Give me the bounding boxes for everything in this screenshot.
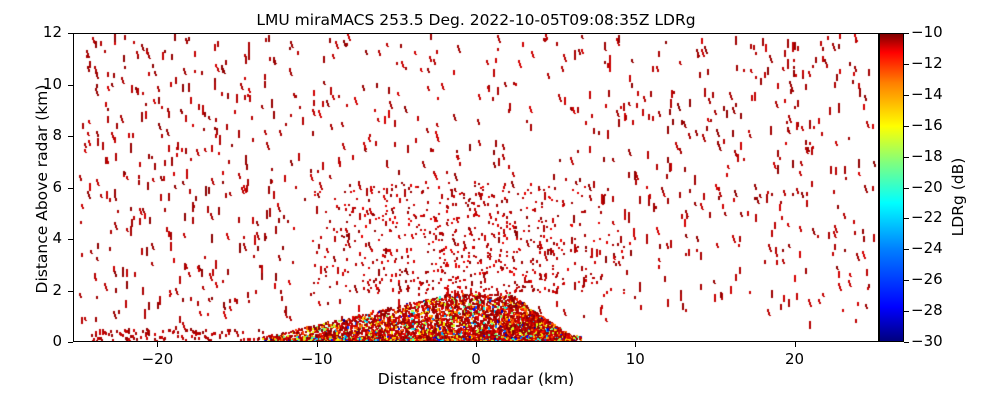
colorbar-tick [904, 311, 909, 312]
colorbar-tick [904, 188, 909, 189]
radar-figure: LMU miraMACS 253.5 Deg. 2022-10-05T09:08… [0, 0, 1000, 400]
y-tick [68, 33, 73, 34]
y-tick-label: 10 [0, 75, 62, 93]
colorbar-tick [904, 342, 909, 343]
y-tick [68, 342, 73, 343]
y-tick-label: 12 [0, 23, 62, 41]
y-tick [68, 239, 73, 240]
x-axis-label: Distance from radar (km) [73, 370, 879, 388]
y-tick-label: 6 [0, 178, 62, 196]
y-tick-label: 2 [0, 281, 62, 299]
colorbar-tick [904, 218, 909, 219]
x-tick-label: −20 [122, 350, 192, 368]
colorbar-tick [904, 95, 909, 96]
colorbar-gradient [879, 33, 904, 342]
colorbar-tick-label: −24 [911, 239, 943, 257]
x-tick-label: 20 [760, 350, 830, 368]
x-tick [317, 342, 318, 347]
colorbar-tick-label: −10 [911, 23, 943, 41]
colorbar-label: LDRg (dB) [949, 127, 967, 267]
colorbar-tick [904, 64, 909, 65]
colorbar-tick-label: −30 [911, 332, 943, 350]
y-tick-label: 4 [0, 229, 62, 247]
x-tick-label: 0 [441, 350, 511, 368]
colorbar-tick [904, 157, 909, 158]
colorbar-tick [904, 33, 909, 34]
colorbar-tick-label: −16 [911, 116, 943, 134]
x-tick [795, 342, 796, 347]
colorbar-tick-label: −20 [911, 178, 943, 196]
page-title: LMU miraMACS 253.5 Deg. 2022-10-05T09:08… [73, 11, 879, 29]
colorbar-tick-label: −28 [911, 301, 943, 319]
y-tick [68, 188, 73, 189]
scatter-canvas [74, 34, 879, 342]
y-tick-label: 8 [0, 126, 62, 144]
x-tick [476, 342, 477, 347]
y-tick [68, 291, 73, 292]
y-tick [68, 85, 73, 86]
x-tick-label: 10 [600, 350, 670, 368]
y-tick-label: 0 [0, 332, 62, 350]
x-tick-label: −10 [282, 350, 352, 368]
colorbar-tick-label: −26 [911, 270, 943, 288]
colorbar-tick-label: −12 [911, 54, 943, 72]
colorbar-tick-label: −14 [911, 85, 943, 103]
x-tick [157, 342, 158, 347]
y-axis-label: Distance Above radar (km) [33, 49, 51, 329]
colorbar-tick-label: −22 [911, 208, 943, 226]
y-tick [68, 136, 73, 137]
colorbar-tick [904, 126, 909, 127]
colorbar-tick-label: −18 [911, 147, 943, 165]
plot-axes [73, 33, 879, 342]
colorbar-tick [904, 249, 909, 250]
colorbar-tick [904, 280, 909, 281]
x-tick [635, 342, 636, 347]
